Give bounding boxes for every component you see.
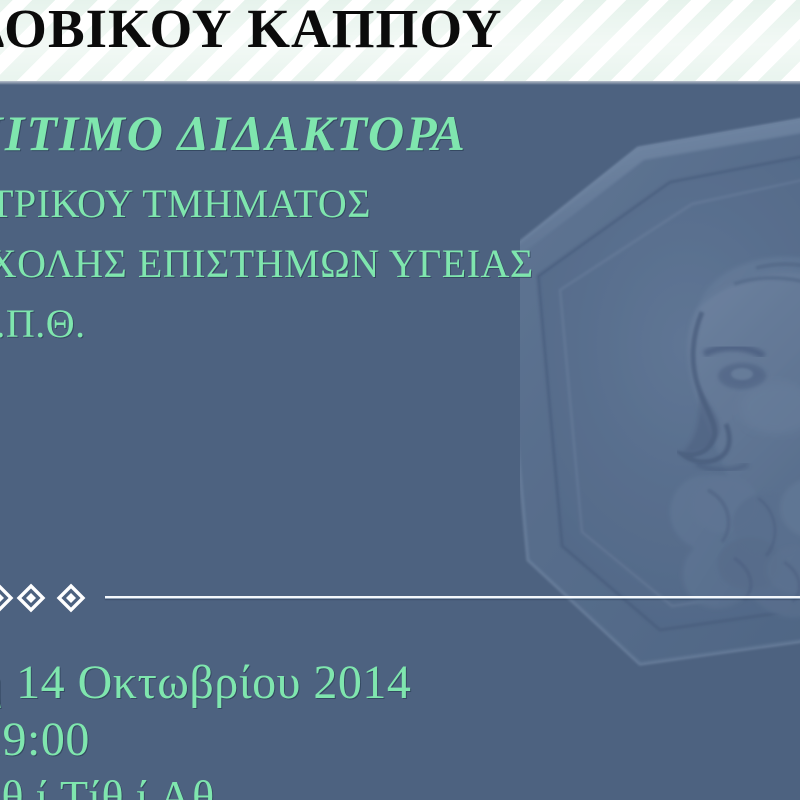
diamond-ornament-icon xyxy=(16,583,46,613)
diamond-ornament-icon xyxy=(56,583,86,613)
top-banner: ΔΟΒΙΚΟΥ ΚΑΠΠΟΥ xyxy=(0,0,800,81)
banner-divider-shadow xyxy=(0,81,800,85)
event-time: 19:00 xyxy=(0,712,90,768)
honorary-doctorate-line: ΠΙΤΙΜΟ ΔΙΔΑΚΤΟΡΑ xyxy=(0,104,467,162)
diamond-ornament-icon xyxy=(0,583,14,613)
school-line: ΣΧΟΛΗΣ ΕΠΙΣΤΗΜΩΝ ΥΓΕΙΑΣ xyxy=(0,240,534,288)
university-line: Α.Π.Θ. xyxy=(0,300,86,348)
department-line: ΑΤΡΙΚΟΥ ΤΜΗΜΑΤΟΣ xyxy=(0,180,371,228)
poster-canvas: ΔΟΒΙΚΟΥ ΚΑΠΠΟΥ ΠΙΤΙΜΟ ΔΙΔΑΚΤΟΡΑ ΑΤΡΙΚΟΥ … xyxy=(0,0,800,800)
event-venue: Τίθ ί Τίθ ί Αθ xyxy=(0,770,215,800)
ornament-divider xyxy=(0,578,800,618)
banner-title: ΔΟΒΙΚΟΥ ΚΑΠΠΟΥ xyxy=(0,0,502,60)
event-date: η 14 Οκτωβρίου 2014 xyxy=(0,655,411,711)
divider-rule xyxy=(105,596,800,599)
